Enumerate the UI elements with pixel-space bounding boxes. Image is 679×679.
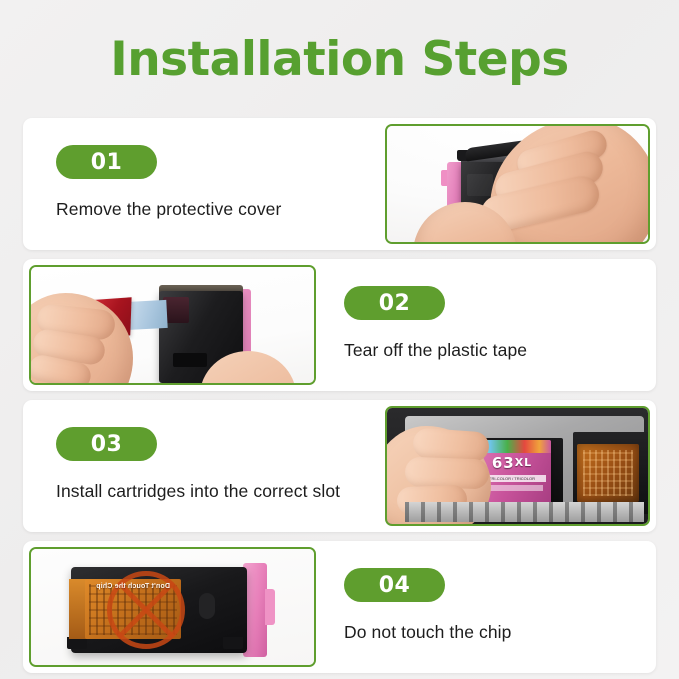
title-container: Installation Steps — [0, 0, 679, 118]
step-caption-02: Tear off the plastic tape — [344, 339, 527, 363]
step-badge-04: 04 — [344, 568, 445, 602]
cartridge-notch-right — [223, 637, 243, 649]
photo-do-not-touch-chip: Don't Touch the Chip — [31, 549, 314, 665]
printer-contact-chip — [577, 444, 639, 502]
step-badge-01: 01 — [56, 145, 157, 179]
photo-tear-plastic-tape — [31, 267, 314, 383]
printer-rail — [405, 502, 644, 522]
page-title: Installation Steps — [110, 32, 569, 87]
step-text-03: 03 Install cartridges into the correct s… — [23, 400, 385, 532]
steps-list: 01 Remove the protective cover — [0, 118, 679, 673]
step-text-01: 01 Remove the protective cover — [23, 118, 385, 250]
step-text-04: 04 Do not touch the chip — [316, 541, 656, 673]
installation-steps-page: Installation Steps 01 Remove the protect… — [0, 0, 679, 679]
step-badge-03: 03 — [56, 427, 157, 461]
photo-install-cartridge-slot: 63XL TRI-COLOR / TRICOLOR — [387, 408, 648, 524]
step-badge-02: 02 — [344, 286, 445, 320]
cartridge-pink-tab — [265, 589, 275, 625]
warning-overlay-text: Don't Touch the Chip — [85, 583, 181, 590]
step-row-04: 04 Do not touch the chip Don't Touch the… — [23, 541, 656, 673]
cartridge-dimple — [199, 593, 215, 619]
step-photo-03: 63XL TRI-COLOR / TRICOLOR — [385, 406, 650, 526]
photo-remove-protective-cover — [387, 126, 648, 242]
step-row-03: 03 Install cartridges into the correct s… — [23, 400, 656, 532]
step-photo-04: Don't Touch the Chip — [29, 547, 316, 667]
cartridge-label-suffix: XL — [515, 456, 533, 469]
step-caption-01: Remove the protective cover — [56, 198, 281, 222]
cartridge-label-number: 63 — [492, 454, 515, 472]
step-caption-04: Do not touch the chip — [344, 621, 512, 645]
step-row-02: 02 Tear off the plastic tape — [23, 259, 656, 391]
step-text-02: 02 Tear off the plastic tape — [316, 259, 656, 391]
step-caption-03: Install cartridges into the correct slot — [56, 480, 340, 504]
cartridge-notch — [173, 353, 207, 367]
step-photo-01 — [385, 124, 650, 244]
step-photo-02 — [29, 265, 316, 385]
step-row-01: 01 Remove the protective cover — [23, 118, 656, 250]
